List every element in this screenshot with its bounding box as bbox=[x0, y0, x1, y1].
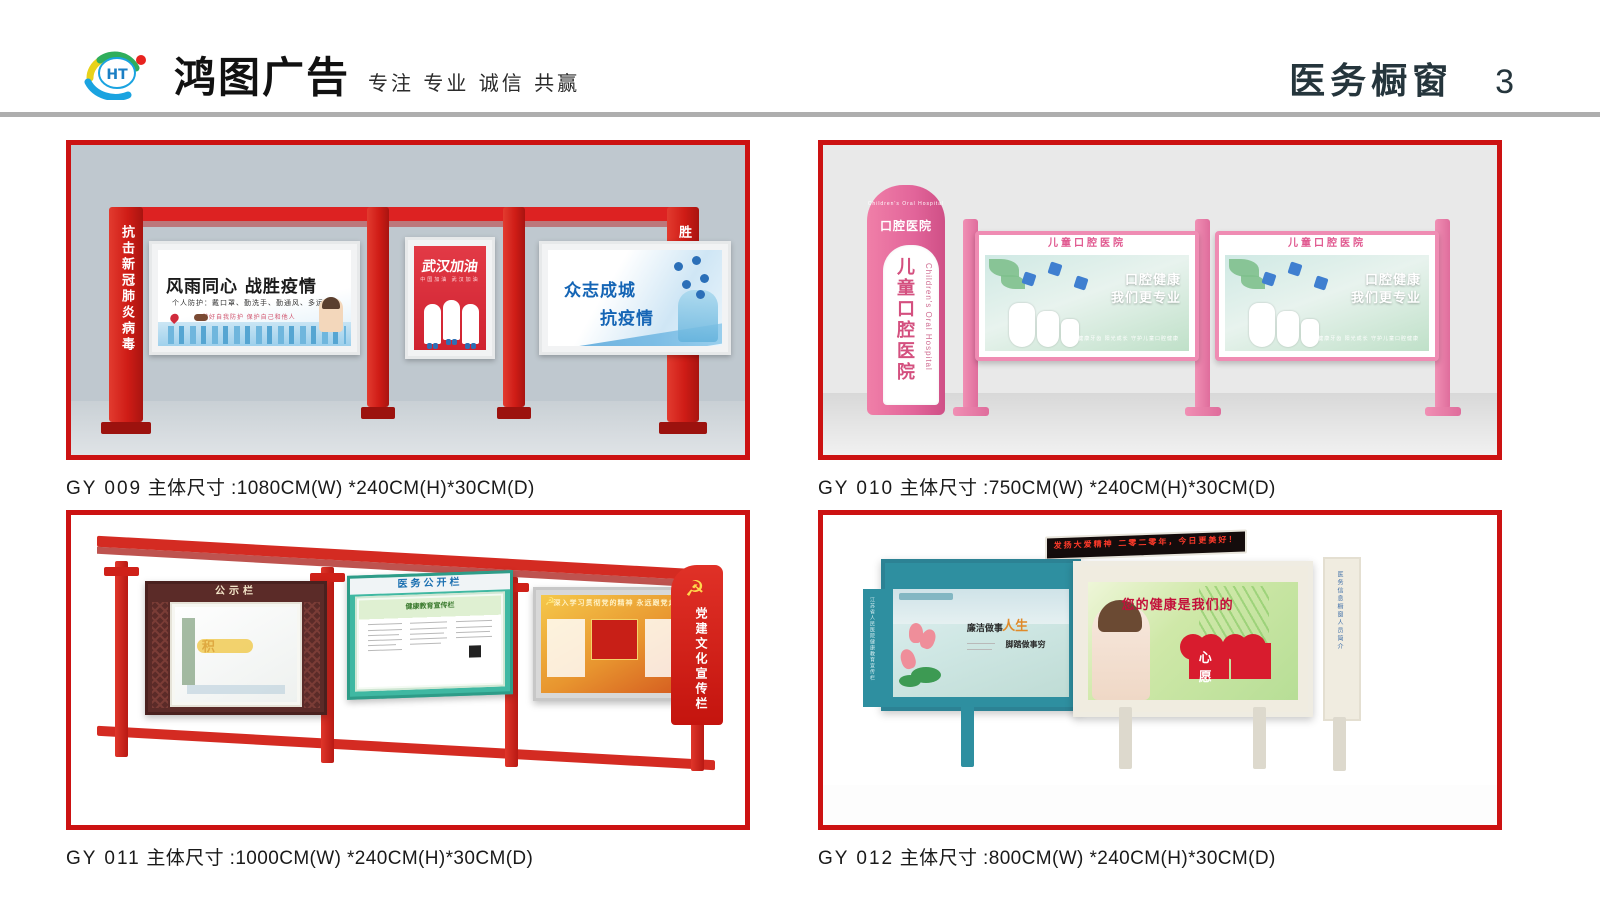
caption-spec-gy-012: 主体尺寸 :800CM(W) *240CM(H)*30CM(D) bbox=[900, 848, 1276, 869]
board-dental-left-line1: 口腔健康 bbox=[1125, 269, 1181, 288]
product-card-gy-010[interactable]: Children's Oral Hospital 口腔医院 儿童口腔医院 Chi… bbox=[818, 140, 1502, 500]
product-image-gy-009: 抗击新冠肺炎病毒 胜利终将属于我们 风雨同心 战胜疫情 个人防护：戴口罩、勤洗手… bbox=[66, 140, 750, 460]
board-lotus-art: 人生 廉洁做事 脚踏做事穷 bbox=[893, 589, 1069, 697]
caption-spec-gy-010: 主体尺寸 :750CM(W) *240CM(H)*30CM(D) bbox=[900, 478, 1276, 499]
caption-code-gy-011: GY 011 bbox=[66, 848, 141, 869]
board-dental-right-line1: 口腔健康 bbox=[1365, 269, 1421, 288]
virus-icon bbox=[670, 256, 716, 302]
board-dental-left-header: 儿童口腔医院 bbox=[979, 235, 1195, 252]
mountain-silhouette bbox=[187, 685, 285, 695]
blue-card-icon-3 bbox=[1073, 275, 1088, 290]
teal-side-panel: 江苏省人民医院健康教育宣传栏 bbox=[863, 589, 889, 707]
tooth-icon-2 bbox=[1037, 311, 1059, 347]
left-pillar: 抗击新冠肺炎病毒 bbox=[109, 207, 143, 422]
board-lotus-accent: 人生 bbox=[1002, 615, 1028, 634]
blue-card-icon-2 bbox=[1047, 261, 1062, 276]
page-number: 3 bbox=[1495, 63, 1514, 102]
board-lotus-side-text: 江苏省人民医院健康教育宣传栏 bbox=[869, 597, 876, 681]
middle-pillar-2-base bbox=[497, 407, 531, 419]
product-card-gy-011[interactable]: 公示栏 积 医务公开栏 健康教育宣传栏 bbox=[66, 510, 750, 870]
brand-name: 鸿图广告 bbox=[174, 56, 350, 100]
qr-code-icon bbox=[469, 645, 481, 657]
cream-leg-3 bbox=[1333, 717, 1346, 771]
catalog-sheet: 抗击新冠肺炎病毒 胜利终将属于我们 风雨同心 战胜疫情 个人防护：戴口罩、勤洗手… bbox=[0, 117, 1600, 919]
product-card-gy-012[interactable]: 发扬大爱精神 二零二零年，今日更美好！ 江苏省人民医院健康教育宣传栏 bbox=[818, 510, 1502, 870]
party-culture-flag-text: 党建文化宣传栏 bbox=[693, 607, 710, 712]
header-right-group: 医务橱窗 3 bbox=[1289, 52, 1514, 104]
hammer-sickle-icon: ☭ bbox=[685, 577, 711, 601]
brush-stroke bbox=[197, 639, 253, 652]
board-dental-right-sub: 健康牙齿 阳光成长 守护儿童口腔健康 bbox=[1318, 336, 1419, 343]
ground-plane bbox=[823, 785, 1497, 825]
teal-leg bbox=[961, 703, 974, 767]
board-yiwu-inner-title: 健康教育宣传栏 bbox=[359, 599, 501, 614]
board-notice-gold-body: 深入学习贯彻党的精神 永远跟党走 ☭ bbox=[541, 595, 689, 693]
blue-card-icon-3 bbox=[1313, 275, 1328, 290]
bamboo-icon bbox=[182, 618, 194, 685]
middle-pillar-1 bbox=[367, 207, 389, 407]
caption-spec-gy-009: 主体尺寸 :1080CM(W) *240CM(H)*30CM(D) bbox=[148, 478, 535, 499]
board-gongshilan: 公示栏 积 bbox=[145, 581, 327, 715]
board-wuhan: 武汉加油 中国加油 武汉加油 bbox=[405, 237, 495, 359]
notice-sheet-art: 健康教育宣传栏 bbox=[359, 596, 501, 688]
hongtu-logo-icon: HT bbox=[84, 48, 160, 100]
mask-icon bbox=[194, 314, 208, 321]
pylon-white-card: 儿童口腔医院 Children's Oral Hospital bbox=[883, 245, 939, 405]
board-fengyu-subtitle: 个人防护：戴口罩、勤洗手、勤通风、多运动 bbox=[172, 298, 332, 308]
caption-code-gy-012: GY 012 bbox=[818, 848, 894, 869]
board-health-heart-text: 心愿 bbox=[1199, 647, 1212, 685]
left-pillar-text: 抗击新冠肺炎病毒 bbox=[118, 225, 134, 353]
brand-slogan: 专注 专业 诚信 共赢 bbox=[368, 70, 580, 100]
middle-pillar-1-base bbox=[361, 407, 395, 419]
board-gongshilan-header: 公示栏 bbox=[148, 584, 324, 600]
nurse-figure-icon bbox=[319, 298, 343, 332]
board-dental-left-art: 口腔健康 我们更专业 健康牙齿 阳光成长 守护儿童口腔健康 bbox=[985, 255, 1189, 351]
board-notice-gold-header: 深入学习贯彻党的精神 永远跟党走 bbox=[541, 598, 689, 608]
board-fengyu-subtitle2: 做好自我防护 保护自己和他人 bbox=[202, 312, 296, 321]
ink-landscape-art: 积 bbox=[175, 607, 297, 702]
board-wuhan-art: 武汉加油 中国加油 武汉加油 bbox=[414, 246, 486, 350]
led-ticker: 发扬大爱精神 二零二零年，今日更美好！ bbox=[1045, 529, 1247, 560]
cream-leg-2 bbox=[1253, 707, 1266, 769]
board-wuhan-title: 武汉加油 bbox=[414, 256, 486, 276]
board-zhongzhi-title-1: 众志成城 bbox=[564, 276, 636, 301]
board-zhongzhi-art: 众志成城 抗疫情 bbox=[548, 250, 722, 346]
cream-leg-1 bbox=[1119, 707, 1132, 769]
board-dental-left-sub: 健康牙齿 阳光成长 守护儿童口腔健康 bbox=[1078, 336, 1179, 343]
board-health-title: 您的健康是我们的 bbox=[1122, 594, 1234, 613]
product-image-gy-010: Children's Oral Hospital 口腔医院 儿童口腔医院 Chi… bbox=[818, 140, 1502, 460]
board-zhongzhi-title-2: 抗疫情 bbox=[600, 304, 654, 329]
pylon-top-en: Children's Oral Hospital bbox=[867, 201, 945, 208]
medical-worker-icon-2 bbox=[443, 300, 460, 340]
board-fengyu-art: 风雨同心 战胜疫情 个人防护：戴口罩、勤洗手、勤通风、多运动 做好自我防护 保护… bbox=[158, 250, 351, 346]
top-rail-shadow bbox=[123, 221, 693, 227]
board-yiwu-gongkai-body: 健康教育宣传栏 bbox=[355, 591, 505, 691]
poster-column-left bbox=[547, 619, 585, 678]
teal-top-arm bbox=[897, 571, 1067, 583]
board-health-green: 您的健康是我们的 心愿 bbox=[1073, 561, 1313, 717]
blue-card-icon-2 bbox=[1287, 261, 1302, 276]
board-zhongzhi: 众志成城 抗疫情 bbox=[539, 241, 731, 355]
tooth-icon-1 bbox=[1009, 303, 1035, 347]
board-wuhan-subtitle: 中国加油 武汉加油 bbox=[414, 276, 486, 283]
board-dental-right-line2: 我们更专业 bbox=[1351, 287, 1421, 306]
poster-flag-panel bbox=[591, 619, 637, 660]
board-fengyu-title: 风雨同心 战胜疫情 bbox=[166, 272, 351, 297]
board-yiwu-gongkai: 医务公开栏 健康教育宣传栏 bbox=[347, 570, 513, 700]
tooth-icon-3 bbox=[1061, 319, 1079, 347]
side-info-panel: 医务信息橱窗人员简介 bbox=[1323, 557, 1361, 721]
tooth-icon-3 bbox=[1301, 319, 1319, 347]
page-title: 医务橱窗 bbox=[1289, 52, 1453, 104]
side-info-panel-text: 医务信息橱窗人员简介 bbox=[1335, 571, 1344, 651]
board-lotus-title2: 脚踏做事穷 bbox=[1006, 639, 1046, 650]
ground-plane bbox=[71, 401, 745, 455]
lattice-right bbox=[304, 602, 320, 708]
board-lotus-title: 廉洁做事 bbox=[967, 621, 1003, 634]
pylon-main-cn: 儿童口腔医院 bbox=[891, 257, 917, 383]
pink-post-3-base bbox=[1425, 407, 1461, 416]
board-dental-left-line2: 我们更专业 bbox=[1111, 287, 1181, 306]
bottom-rail bbox=[97, 726, 715, 771]
board-gongshilan-body: 积 bbox=[170, 602, 302, 707]
product-image-gy-012: 发扬大爱精神 二零二零年，今日更美好！ 江苏省人民医院健康教育宣传栏 bbox=[818, 510, 1502, 830]
page-header: HT 鸿图广告 专注 专业 诚信 共赢 医务橱窗 3 bbox=[0, 0, 1600, 112]
caption-code-gy-010: GY 010 bbox=[818, 478, 894, 499]
seal-stamp-icon bbox=[899, 593, 953, 600]
product-image-gy-011: 公示栏 积 医务公开栏 健康教育宣传栏 bbox=[66, 510, 750, 830]
caption-gy-009: GY 009 主体尺寸 :1080CM(W) *240CM(H)*30CM(D) bbox=[66, 473, 750, 500]
board-lotus-teal: 江苏省人民医院健康教育宣传栏 人生 廉洁做事 脚踏做事穷 bbox=[881, 559, 1081, 711]
lattice-left bbox=[152, 602, 168, 708]
board-health-art: 您的健康是我们的 心愿 bbox=[1088, 582, 1298, 700]
product-card-gy-009[interactable]: 抗击新冠肺炎病毒 胜利终将属于我们 风雨同心 战胜疫情 个人防护：戴口罩、勤洗手… bbox=[66, 140, 750, 500]
party-culture-flag: ☭ 党建文化宣传栏 bbox=[671, 565, 723, 725]
medical-worker-icon-3 bbox=[462, 304, 479, 344]
tooth-icon-1 bbox=[1249, 303, 1275, 347]
caption-gy-012: GY 012 主体尺寸 :800CM(W) *240CM(H)*30CM(D) bbox=[818, 843, 1502, 870]
top-rail bbox=[123, 207, 693, 221]
caption-gy-010: GY 010 主体尺寸 :750CM(W) *240CM(H)*30CM(D) bbox=[818, 473, 1502, 500]
hammer-sickle-icon: ☭ bbox=[545, 597, 557, 608]
medical-worker-icon-1 bbox=[424, 304, 441, 344]
left-pillar-base bbox=[101, 422, 151, 434]
led-ticker-text: 发扬大爱精神 二零二零年，今日更美好！ bbox=[1047, 534, 1245, 552]
girl-photo bbox=[1092, 604, 1150, 700]
hospital-pylon: Children's Oral Hospital 口腔医院 儿童口腔医院 Chi… bbox=[867, 185, 945, 415]
brand-lockup: HT 鸿图广告 专注 专业 诚信 共赢 bbox=[84, 48, 580, 100]
board-dental-right-header: 儿童口腔医院 bbox=[1219, 235, 1435, 252]
board-dental-right: 儿童口腔医院 口腔健康 我们更专业 健康牙齿 阳光成长 守护儿童口腔健康 bbox=[1215, 231, 1439, 361]
middle-pillar-2 bbox=[503, 207, 525, 407]
board-dental-left: 儿童口腔医院 口腔健康 我们更专业 健康牙齿 阳光成长 守护儿童口腔健康 bbox=[975, 231, 1199, 361]
svg-text:HT: HT bbox=[106, 67, 128, 83]
support-column-1 bbox=[115, 561, 128, 757]
column-cap-1 bbox=[104, 567, 139, 576]
pylon-top-cn: 口腔医院 bbox=[867, 217, 945, 234]
heart-icon-2 bbox=[1231, 643, 1271, 679]
pylon-main-en: Children's Oral Hospital bbox=[924, 263, 933, 371]
caption-spec-gy-011: 主体尺寸 :1000CM(W) *240CM(H)*30CM(D) bbox=[146, 848, 533, 869]
board-fengyu: 风雨同心 战胜疫情 个人防护：戴口罩、勤洗手、勤通风、多运动 做好自我防护 保护… bbox=[149, 241, 360, 355]
caption-code-gy-009: GY 009 bbox=[66, 478, 142, 499]
pink-post-2-base bbox=[1185, 407, 1221, 416]
lotus-icon bbox=[899, 623, 953, 693]
caption-gy-011: GY 011 主体尺寸 :1000CM(W) *240CM(H)*30CM(D) bbox=[66, 843, 750, 870]
board-dental-right-art: 口腔健康 我们更专业 健康牙齿 阳光成长 守护儿童口腔健康 bbox=[1225, 255, 1429, 351]
pink-post-1-base bbox=[953, 407, 989, 416]
tooth-icon-2 bbox=[1277, 311, 1299, 347]
right-pillar-base bbox=[659, 422, 707, 434]
